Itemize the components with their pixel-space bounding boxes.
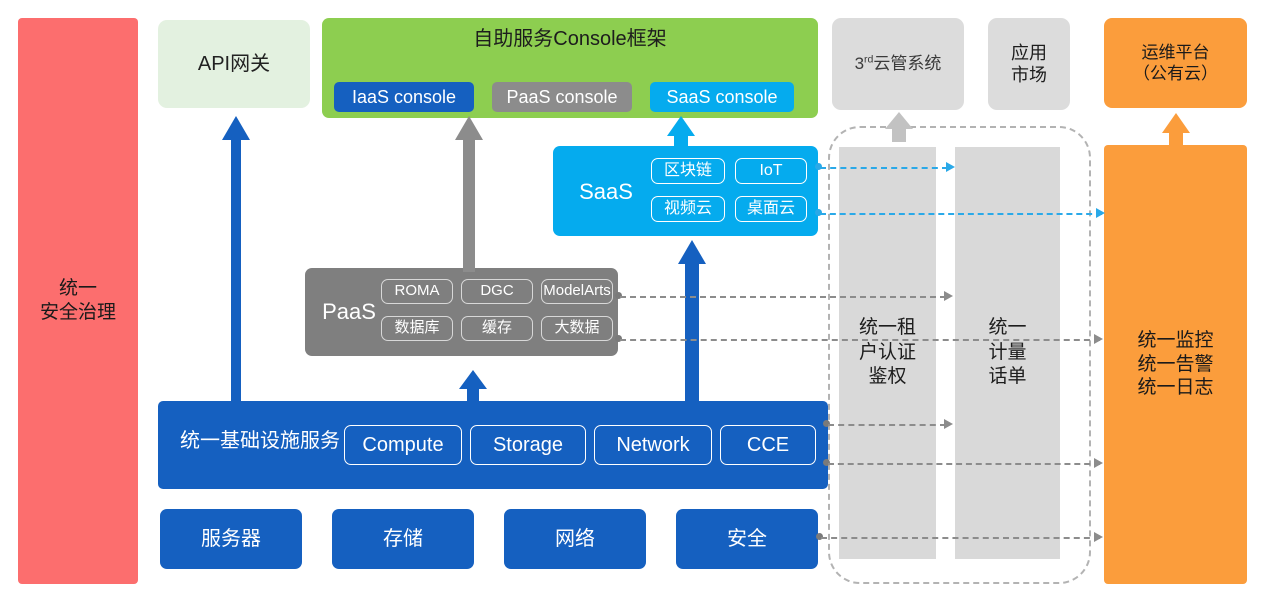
- chip-paas-roma: ROMA: [381, 279, 453, 304]
- security-label-line2: 安全治理: [40, 301, 116, 325]
- chip-paas-bigdata: 大数据: [541, 316, 613, 341]
- box-resource-storage: 存储: [332, 509, 474, 569]
- chip-paas-console: PaaS console: [492, 82, 632, 112]
- dashhead-infra-to-ops: [1094, 458, 1103, 468]
- ops-body-line2: 统一告警: [1137, 353, 1213, 377]
- chip-infra-storage: Storage: [470, 425, 586, 465]
- chip-saas-iot: IoT: [735, 158, 807, 184]
- arrow-infra-to-paas: [459, 370, 487, 403]
- console-framework-title: 自助服务Console框架: [322, 27, 818, 52]
- chip-saas-console: SaaS console: [650, 82, 794, 112]
- arrow-infra-to-api-gateway: [222, 116, 250, 403]
- col1-line3: 话单: [971, 365, 1045, 390]
- ops-body-line3: 统一日志: [1137, 376, 1213, 400]
- chip-saas-blockchain: 区块链: [651, 158, 725, 184]
- ops-header-line2: （公有云）: [1133, 63, 1218, 84]
- box-resource-server: 服务器: [160, 509, 302, 569]
- api-gateway-label: API网关: [198, 52, 270, 77]
- chip-paas-dgc: DGC: [461, 279, 533, 304]
- chip-infra-cce: CCE: [720, 425, 816, 465]
- arrow-ops-body-to-ops-header: [1161, 113, 1191, 147]
- saas-label: SaaS: [563, 178, 649, 206]
- column-unified-metering-billing: 统一 计量 话单: [955, 147, 1060, 559]
- chip-saas-desktop-cloud: 桌面云: [735, 196, 807, 222]
- dashline-paas-to-auth: [620, 296, 946, 298]
- box-ops-platform-public-cloud: 运维平台 （公有云）: [1104, 18, 1247, 108]
- dashhead-saas-to-ops: [1096, 208, 1105, 218]
- bar-unified-infrastructure-service: 统一基础设施服务 Compute Storage Network CCE: [158, 401, 828, 489]
- third-party-label: 3rd云管系统: [855, 53, 942, 74]
- panel-unified-monitoring-alarm-log: 统一监控 统一告警 统一日志: [1104, 145, 1247, 584]
- security-label-line1: 统一: [40, 277, 116, 301]
- dashline-infra-to-ops: [828, 463, 1100, 465]
- box-paas-layer: PaaS ROMA DGC ModelArts 数据库 缓存 大数据: [305, 268, 618, 356]
- architecture-diagram: 统一 安全治理 API网关 自助服务Console框架 IaaS console…: [0, 0, 1265, 605]
- box-self-service-console-framework: 自助服务Console框架 IaaS console PaaS console …: [322, 18, 818, 118]
- dashline-paas-to-ops: [620, 339, 1100, 341]
- box-application-market: 应用 市场: [988, 18, 1070, 110]
- paas-label: PaaS: [313, 298, 385, 326]
- dashhead-resource-to-ops: [1094, 532, 1103, 542]
- col0-line1: 统一租: [851, 316, 925, 341]
- box-resource-network: 网络: [504, 509, 646, 569]
- box-saas-layer: SaaS 区块链 IoT 视频云 桌面云: [553, 146, 818, 236]
- dashline-infra-to-auth: [828, 424, 946, 426]
- arrow-paas-to-console: [455, 116, 483, 272]
- dashhead-saas-to-auth: [946, 162, 955, 172]
- dashline-saas-to-ops: [820, 213, 1102, 215]
- chip-paas-modelarts: ModelArts: [541, 279, 613, 304]
- app-market-label-line2: 市场: [1011, 64, 1047, 87]
- arrow-saas-to-console: [667, 116, 695, 150]
- box-resource-security: 安全: [676, 509, 818, 569]
- col0-line3: 鉴权: [851, 365, 925, 390]
- column-unified-tenant-auth: 统一租 户认证 鉴权: [839, 147, 936, 559]
- chip-iaas-console: IaaS console: [334, 82, 474, 112]
- chip-infra-compute: Compute: [344, 425, 462, 465]
- panel-unified-security-governance: 统一 安全治理: [18, 18, 138, 584]
- col1-line2: 计量: [971, 341, 1045, 366]
- dashhead-paas-to-auth: [944, 291, 953, 301]
- infrastructure-label: 统一基础设施服务: [172, 429, 348, 454]
- dashhead-paas-to-ops: [1094, 334, 1103, 344]
- col0-line2: 户认证: [851, 341, 925, 366]
- dashline-resource-to-ops: [821, 537, 1100, 539]
- dashline-saas-to-auth: [820, 167, 948, 169]
- chip-paas-cache: 缓存: [461, 316, 533, 341]
- box-api-gateway: API网关: [158, 20, 310, 108]
- arrow-infra-to-saas: [677, 240, 707, 403]
- ops-body-line1: 统一监控: [1137, 329, 1213, 353]
- chip-saas-video-cloud: 视频云: [651, 196, 725, 222]
- chip-infra-network: Network: [594, 425, 712, 465]
- dashhead-infra-to-auth: [944, 419, 953, 429]
- ops-header-line1: 运维平台: [1133, 42, 1218, 63]
- app-market-label-line1: 应用: [1011, 42, 1047, 65]
- box-third-party-cloud-management: 3rd云管系统: [832, 18, 964, 110]
- chip-paas-database: 数据库: [381, 316, 453, 341]
- arrow-common-to-third-party: [884, 112, 914, 142]
- col1-line1: 统一: [971, 316, 1045, 341]
